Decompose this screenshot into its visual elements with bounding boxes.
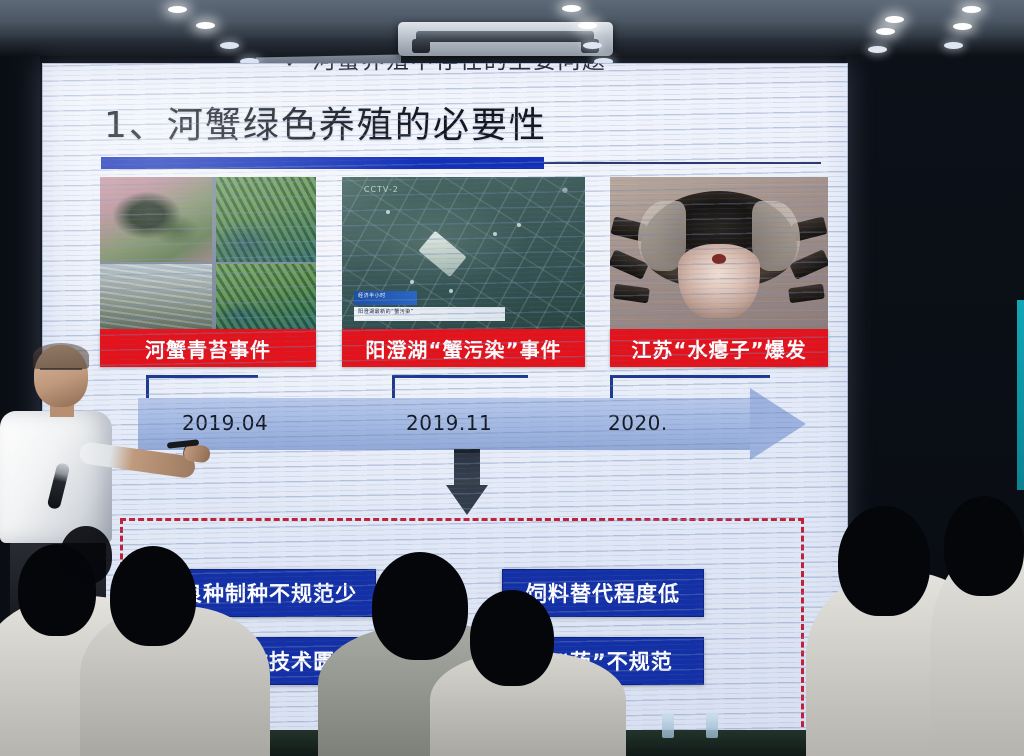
- cctv-ticker-label-text: 经济半小时: [358, 292, 386, 299]
- audience-head: [60, 526, 112, 584]
- collage-cell-top-right: [216, 177, 316, 262]
- cctv-lake-broadcast-image: CCTV-2 ● 经济半小时 阳澄湖最新的“蟹污染”: [342, 177, 585, 329]
- collage-cell-bottom-right: [216, 264, 316, 329]
- cctv-speck: [410, 280, 414, 284]
- downlight-icon: [562, 5, 581, 12]
- check-icon: ✓: [284, 63, 305, 74]
- downlight-icon: [953, 23, 972, 30]
- downlight-icon: [868, 46, 887, 53]
- caption-pollution-event: 阳澄湖“蟹污染”事件: [342, 329, 585, 367]
- downlight-icon: [944, 42, 963, 49]
- connector-line-3: [610, 375, 770, 378]
- cctv-speck: [449, 289, 453, 293]
- downlight-icon: [962, 6, 981, 13]
- timeline-arrow: 2019.04 08 2019.11 2020.: [138, 398, 808, 450]
- timeline-arrowhead: [750, 388, 806, 460]
- downlight-icon: [220, 42, 239, 49]
- media-row: CCTV-2 ● 经济半小时 阳澄湖最新的“蟹污染”: [100, 177, 828, 329]
- cctv-ticker-headline-text: 阳澄湖最新的“蟹污染”: [358, 308, 414, 315]
- audience-head: [944, 496, 1024, 596]
- downlight-icon: [196, 22, 215, 29]
- down-arrow-head: [446, 485, 488, 515]
- cctv-watermark: ●: [562, 186, 568, 194]
- crab-leg: [788, 284, 825, 304]
- crab-viscera: [678, 244, 761, 318]
- down-arrow-icon: [446, 453, 488, 515]
- collage-cell-top-left: [100, 177, 212, 262]
- crab-leg: [613, 284, 650, 304]
- photo-scene: 1、河蟹绿色养殖的必要性 CCTV-2 ●: [0, 0, 1024, 756]
- title-divider: [101, 155, 821, 170]
- slide-title: 1、河蟹绿色养殖的必要性: [104, 96, 547, 148]
- water-bottle: [662, 712, 674, 738]
- connector-stem-3: [610, 375, 613, 399]
- audience-head: [110, 546, 196, 646]
- glasses-icon: [40, 368, 82, 379]
- downlight-icon: [583, 42, 602, 49]
- water-bottle: [706, 712, 718, 738]
- cctv-speck: [517, 223, 521, 227]
- connector-line-2: [392, 375, 528, 378]
- audience-head: [838, 506, 930, 616]
- audience-head: [470, 590, 554, 686]
- connector-stem-2: [392, 375, 395, 399]
- downlight-icon: [876, 28, 895, 35]
- audience-head: [372, 552, 468, 660]
- cctv-speck: [493, 232, 497, 236]
- cctv-logo: CCTV-2: [364, 185, 399, 194]
- cctv-boat: [419, 231, 467, 277]
- diseased-crab-photo-image: [610, 177, 828, 329]
- timeline-date-3: 2020.: [608, 411, 668, 435]
- cctv-ticker-headline: 阳澄湖最新的“蟹污染”: [354, 307, 505, 321]
- crab-photo: [610, 177, 828, 329]
- downlight-icon: [578, 22, 597, 29]
- cctv-speck: [386, 210, 390, 214]
- timeline-date-2: 2019.11: [406, 411, 492, 435]
- cctv-frame: CCTV-2 ● 经济半小时 阳澄湖最新的“蟹污染”: [342, 177, 585, 329]
- presenter-hair: [33, 343, 89, 369]
- caption-disease-event: 江苏“水瘪子”爆发: [610, 329, 828, 367]
- downlight-icon: [168, 6, 187, 13]
- conclusion-heading: ✓河蟹养殖中存在的主要问题: [42, 63, 848, 75]
- downlight-icon: [885, 16, 904, 23]
- algae-collage-image: [100, 177, 316, 329]
- collage-cell-bottom-left: [100, 264, 212, 329]
- title-divider-line: [544, 162, 821, 164]
- title-divider-bar: [101, 157, 544, 169]
- projector-lens-left: [412, 39, 430, 53]
- accent-light-strip: [1017, 300, 1024, 490]
- presenter-hand: [183, 444, 211, 464]
- down-arrow-stem: [454, 453, 480, 487]
- cctv-ticker-label: 经济半小时: [354, 291, 417, 305]
- conclusion-heading-text: 河蟹养殖中存在的主要问题: [312, 63, 606, 74]
